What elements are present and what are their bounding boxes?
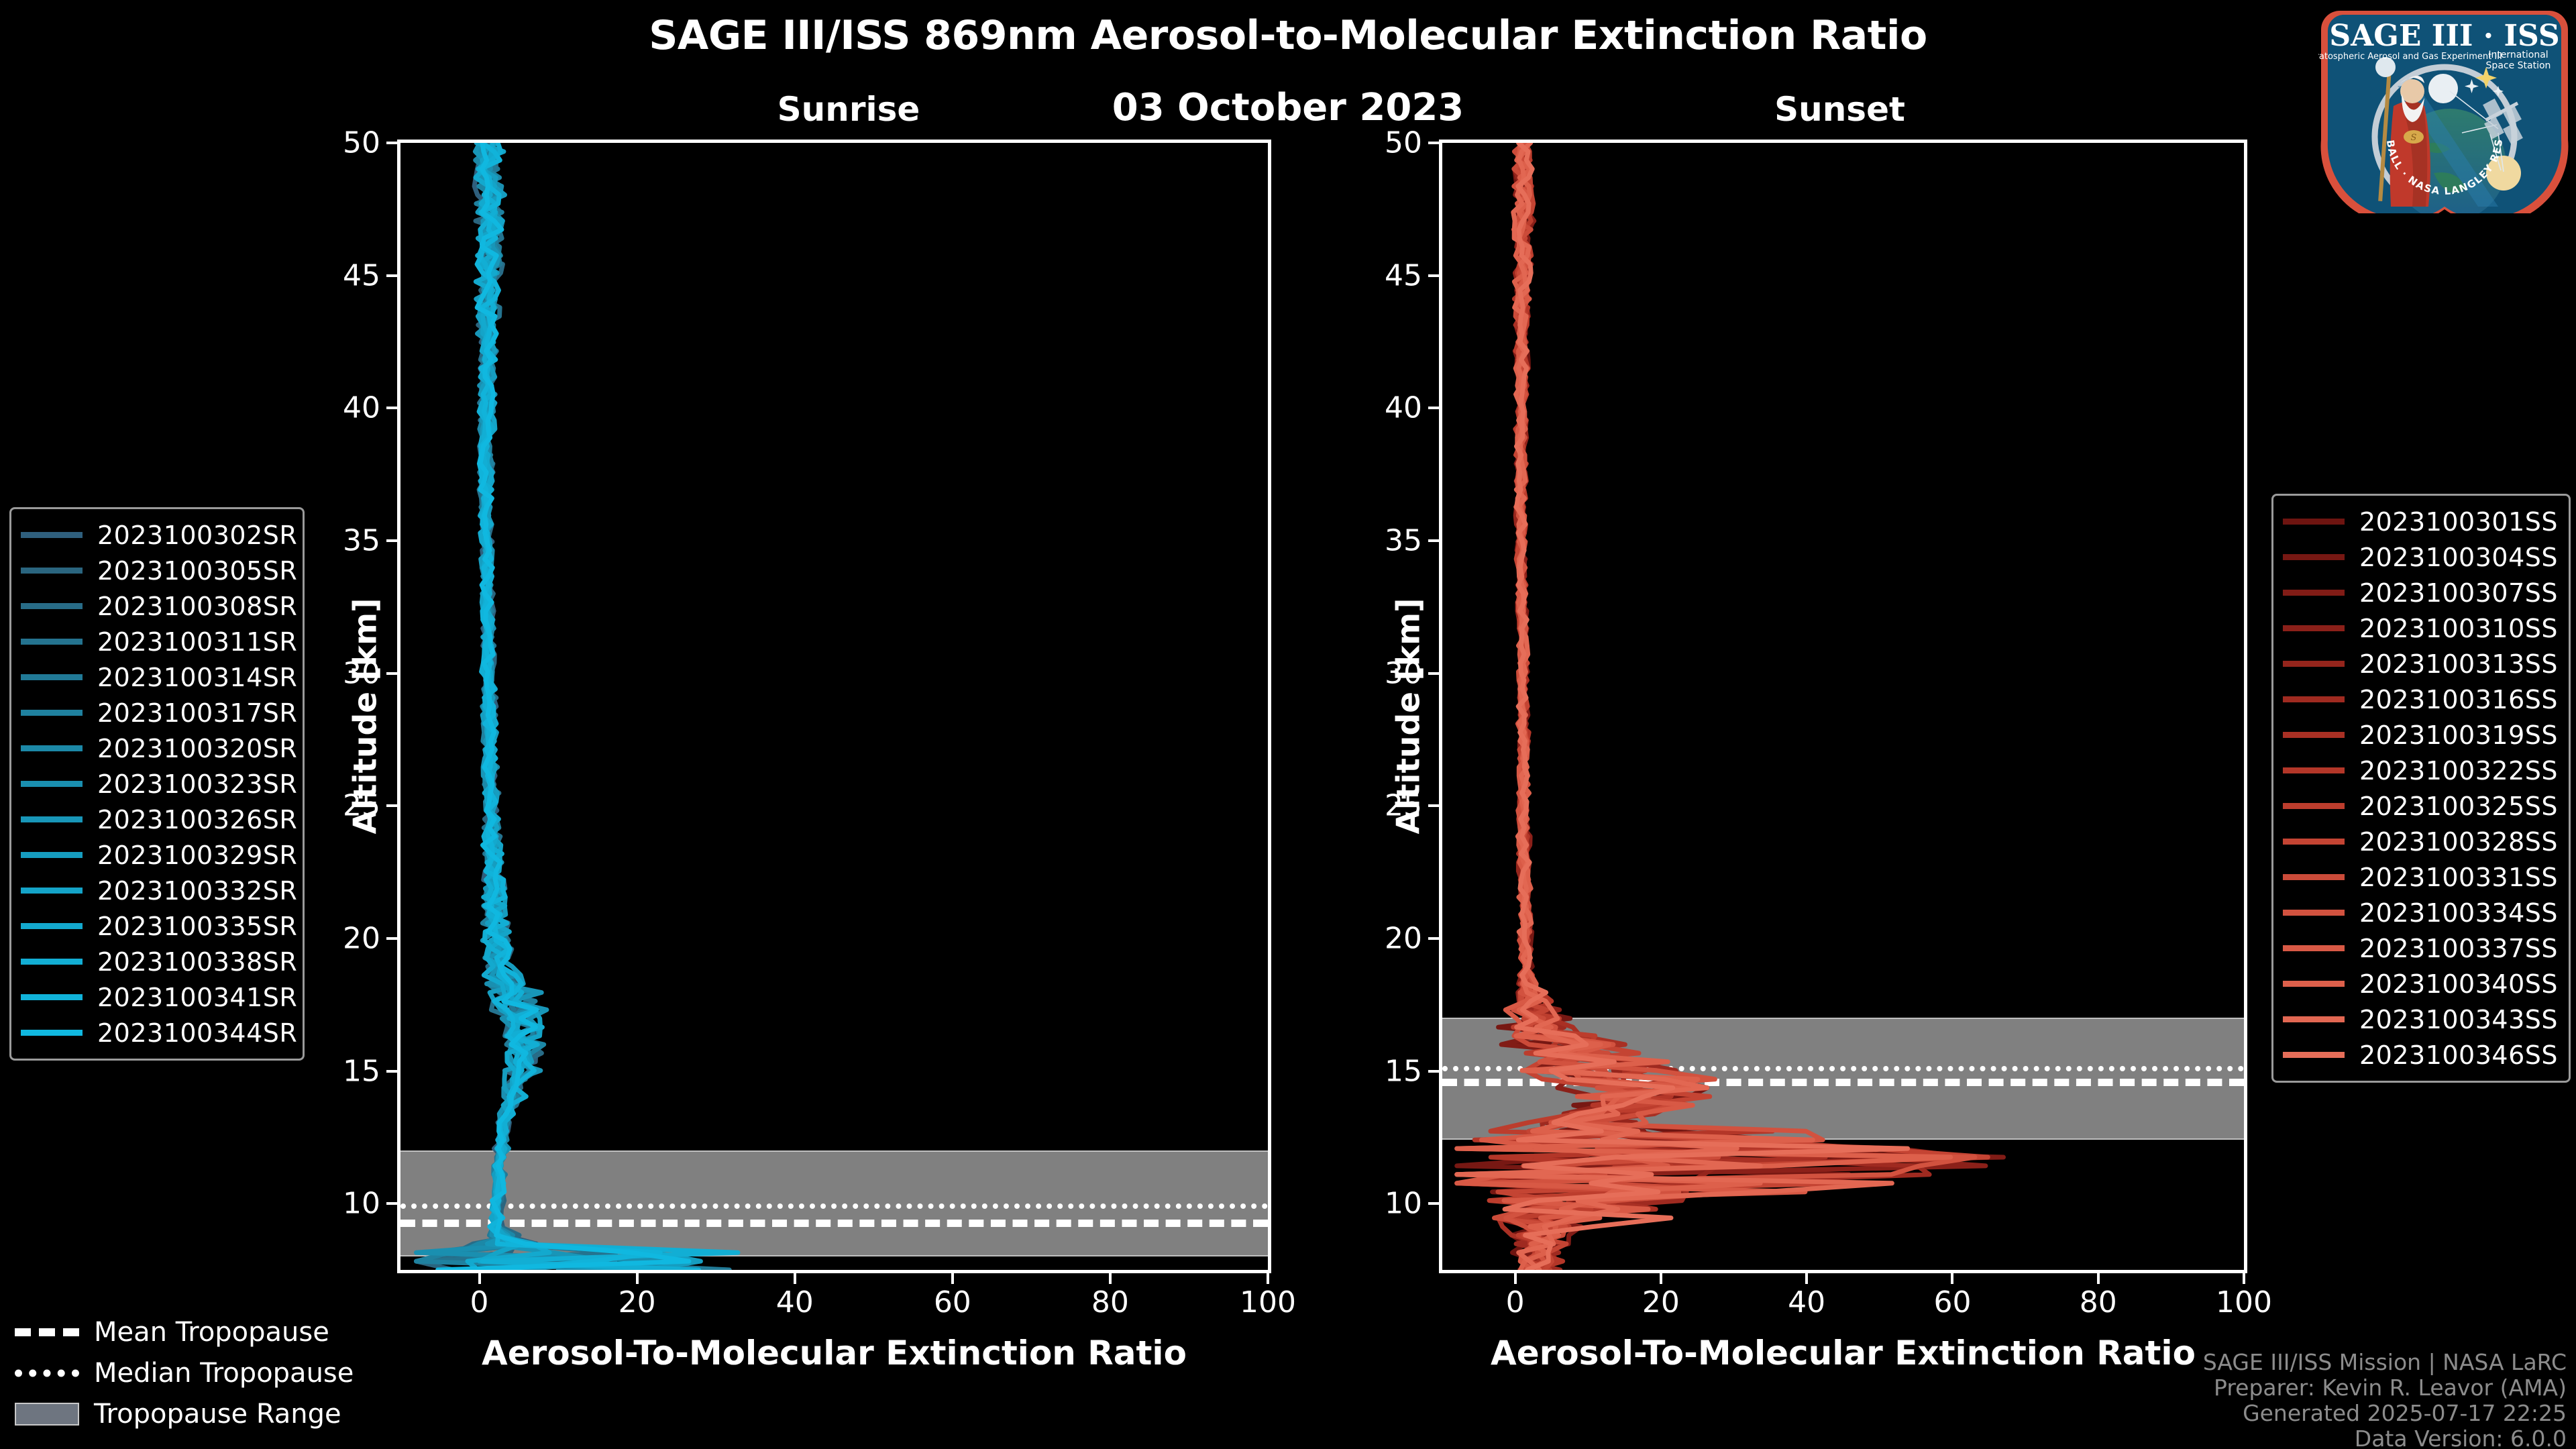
sunrise-legend-label: 2023100338SR — [97, 947, 297, 977]
credits-line: SAGE III/ISS Mission | NASA LaRC — [2203, 1350, 2567, 1375]
sunset-legend-row[interactable]: 2023100334SS — [2283, 895, 2557, 930]
x-tick-label-right-80: 80 — [2080, 1285, 2117, 1320]
profile-line-2023100332SR — [476, 143, 651, 1270]
x-tick-mark-left-40 — [794, 1273, 796, 1284]
y-tick-label-right-40: 40 — [1342, 391, 1422, 425]
sunset-legend-label: 2023100307SS — [2359, 578, 2558, 608]
y-tick-label-left-15: 15 — [300, 1054, 380, 1088]
sunset-legend-row[interactable]: 2023100331SS — [2283, 859, 2557, 895]
y-tick-mark-right-30 — [1428, 672, 1439, 675]
logo-title: SAGE III · ISS — [2329, 19, 2559, 53]
sunrise-legend-label: 2023100326SR — [97, 805, 297, 835]
y-tick-mark-left-50 — [386, 142, 397, 144]
profile-line-2023100340SS — [1457, 143, 1951, 1270]
x-tick-label-left-100: 100 — [1240, 1285, 1296, 1320]
sunrise-legend-swatch — [21, 994, 83, 1000]
sunset-legend-label: 2023100310SS — [2359, 614, 2558, 643]
credits-line: Preparer: Kevin R. Leavor (AMA) — [2203, 1375, 2567, 1401]
sunset-y-axis-label: Altitude [km] — [1391, 582, 1428, 851]
sunset-legend-row[interactable]: 2023100328SS — [2283, 824, 2557, 859]
x-tick-label-left-80: 80 — [1091, 1285, 1129, 1320]
y-tick-mark-right-50 — [1428, 142, 1439, 144]
sunrise-legend-row[interactable]: 2023100341SR — [21, 979, 290, 1015]
sunset-legend-row[interactable]: 2023100310SS — [2283, 610, 2557, 646]
y-tick-label-left-45: 45 — [300, 258, 380, 292]
y-tick-mark-right-25 — [1428, 804, 1439, 807]
sunset-legend-swatch — [2283, 767, 2345, 773]
profile-line-2023100311SR — [417, 143, 729, 1270]
sunset-legend-row[interactable]: 2023100307SS — [2283, 575, 2557, 610]
tropopause-legend-swatch-shaded-box — [15, 1403, 79, 1426]
tropopause-legend: Mean TropopauseMedian TropopauseTropopau… — [15, 1311, 390, 1434]
sunrise-legend-swatch — [21, 674, 83, 680]
y-tick-label-right-10: 10 — [1342, 1187, 1422, 1221]
profile-line-2023100307SS — [1501, 143, 2003, 1270]
tropopause-legend-row: Tropopause Range — [15, 1393, 390, 1434]
profile-line-2023100344SR — [438, 143, 689, 1270]
credits-block: SAGE III/ISS Mission | NASA LaRCPreparer… — [2203, 1350, 2567, 1449]
y-tick-label-left-20: 20 — [300, 921, 380, 955]
sunrise-legend-label: 2023100323SR — [97, 769, 297, 799]
sunset-legend-swatch — [2283, 590, 2345, 596]
x-tick-label-right-20: 20 — [1642, 1285, 1680, 1320]
y-tick-label-right-50: 50 — [1342, 126, 1422, 160]
y-tick-label-right-20: 20 — [1342, 921, 1422, 955]
sunrise-legend-label: 2023100311SR — [97, 627, 297, 657]
sunrise-legend-label: 2023100335SR — [97, 912, 297, 941]
sunset-legend-row[interactable]: 2023100301SS — [2283, 504, 2557, 539]
x-tick-label-left-40: 40 — [776, 1285, 814, 1320]
profile-line-2023100308SR — [441, 143, 614, 1270]
sunset-legend-swatch — [2283, 981, 2345, 987]
sunrise-legend-row[interactable]: 2023100335SR — [21, 908, 290, 944]
sunset-legend-row[interactable]: 2023100325SS — [2283, 788, 2557, 824]
profile-line-2023100323SR — [417, 143, 700, 1270]
sunset-legend-row[interactable]: 2023100343SS — [2283, 1002, 2557, 1037]
sunrise-legend[interactable]: 2023100302SR2023100305SR2023100308SR2023… — [9, 507, 305, 1061]
sunrise-legend-swatch — [21, 888, 83, 894]
sunrise-legend-swatch — [21, 852, 83, 858]
sunset-legend-label: 2023100346SS — [2359, 1040, 2558, 1070]
logo-iss-line1: International — [2488, 50, 2548, 60]
x-tick-mark-right-0 — [1514, 1273, 1517, 1284]
sunset-legend-row[interactable]: 2023100313SS — [2283, 646, 2557, 682]
x-tick-mark-right-60 — [1951, 1273, 1953, 1284]
tropopause-legend-label: Mean Tropopause — [94, 1317, 329, 1348]
tropopause-legend-swatch-dashed — [15, 1322, 79, 1342]
sunset-legend-label: 2023100316SS — [2359, 685, 2558, 714]
sunset-legend-row[interactable]: 2023100322SS — [2283, 753, 2557, 788]
sunset-legend-swatch — [2283, 1052, 2345, 1058]
sunset-legend-label: 2023100340SS — [2359, 969, 2558, 999]
y-tick-label-left-40: 40 — [300, 391, 380, 425]
logo-moon — [2428, 74, 2458, 103]
sunrise-legend-swatch — [21, 781, 83, 787]
sunset-legend-label: 2023100337SS — [2359, 934, 2558, 963]
profile-line-2023100302SR — [445, 143, 615, 1270]
credits-line: Generated 2025-07-17 22:25 — [2203, 1401, 2567, 1426]
sunset-legend-swatch — [2283, 945, 2345, 951]
sunrise-legend-swatch — [21, 745, 83, 751]
sunset-legend-swatch — [2283, 1016, 2345, 1022]
sunrise-legend-row[interactable]: 2023100311SR — [21, 624, 290, 659]
x-tick-label-right-100: 100 — [2216, 1285, 2272, 1320]
x-tick-mark-left-100 — [1267, 1273, 1269, 1284]
x-tick-mark-right-40 — [1805, 1273, 1808, 1284]
sunrise-legend-swatch — [21, 923, 83, 929]
sunrise-legend-swatch — [21, 603, 83, 609]
sunset-legend-swatch — [2283, 696, 2345, 702]
tropopause-legend-swatch-dotted — [15, 1363, 79, 1383]
x-tick-mark-left-60 — [951, 1273, 954, 1284]
sunrise-legend-label: 2023100308SR — [97, 592, 297, 621]
x-tick-label-right-60: 60 — [1933, 1285, 1971, 1320]
sunrise-legend-swatch — [21, 568, 83, 574]
sunrise-legend-row[interactable]: 2023100344SR — [21, 1015, 290, 1051]
credits-line: Data Version: 6.0.0 — [2203, 1426, 2567, 1449]
tropopause-legend-row: Mean Tropopause — [15, 1311, 390, 1352]
sunset-legend-row[interactable]: 2023100319SS — [2283, 717, 2557, 753]
sunrise-legend-row[interactable]: 2023100338SR — [21, 944, 290, 979]
y-tick-label-right-35: 35 — [1342, 523, 1422, 557]
sunrise-legend-swatch — [21, 1030, 83, 1036]
panel-title-sunrise: Sunrise — [396, 90, 1301, 129]
sunset-legend-swatch — [2283, 554, 2345, 560]
sunset-legend-row[interactable]: 2023100346SS — [2283, 1037, 2557, 1073]
sunrise-legend-label: 2023100317SR — [97, 698, 297, 728]
y-tick-mark-left-35 — [386, 539, 397, 542]
y-tick-mark-right-15 — [1428, 1070, 1439, 1073]
sunrise-legend-row[interactable]: 2023100320SR — [21, 731, 290, 766]
y-tick-label-right-15: 15 — [1342, 1054, 1422, 1088]
sunset-legend-label: 2023100319SS — [2359, 720, 2558, 750]
y-tick-mark-right-20 — [1428, 937, 1439, 940]
sunrise-legend-label: 2023100329SR — [97, 841, 297, 870]
y-tick-mark-left-15 — [386, 1070, 397, 1073]
sunrise-legend-row[interactable]: 2023100308SR — [21, 588, 290, 624]
sunset-legend-label: 2023100313SS — [2359, 649, 2558, 679]
y-tick-label-left-35: 35 — [300, 523, 380, 557]
sunrise-legend-label: 2023100305SR — [97, 556, 297, 586]
sunrise-legend-row[interactable]: 2023100314SR — [21, 659, 290, 695]
sunset-legend-row[interactable]: 2023100316SS — [2283, 682, 2557, 717]
profile-line-2023100334SS — [1457, 143, 1975, 1270]
profile-line-2023100338SR — [478, 143, 738, 1270]
sunrise-legend-label: 2023100314SR — [97, 663, 297, 692]
sunrise-legend-label: 2023100302SR — [97, 521, 297, 550]
sunrise-legend-label: 2023100341SR — [97, 983, 297, 1012]
sage-iii-iss-mission-patch-logo: S BALL · NASA LANGLEY RESEARCH CENTER · … — [2318, 5, 2571, 213]
sunset-legend[interactable]: 2023100301SS2023100304SS2023100307SS2023… — [2271, 494, 2571, 1083]
profile-line-2023100317SR — [417, 143, 659, 1270]
x-tick-mark-right-100 — [2243, 1273, 2245, 1284]
y-tick-label-left-10: 10 — [300, 1187, 380, 1221]
profile-line-2023100314SR — [432, 143, 730, 1270]
page-title: SAGE III/ISS 869nm Aerosol-to-Molecular … — [0, 12, 2576, 59]
sunrise-legend-label: 2023100320SR — [97, 734, 297, 763]
sunset-legend-swatch — [2283, 910, 2345, 916]
x-tick-label-left-60: 60 — [934, 1285, 971, 1320]
sunset-legend-label: 2023100328SS — [2359, 827, 2558, 857]
y-tick-mark-left-10 — [386, 1202, 397, 1205]
y-tick-mark-right-10 — [1428, 1202, 1439, 1205]
sunset-legend-swatch — [2283, 803, 2345, 809]
profile-line-2023100328SS — [1457, 143, 1988, 1270]
sunset-plot-area — [1439, 140, 2247, 1273]
sunset-profile-curves — [1442, 143, 2244, 1270]
sunrise-plot-area — [397, 140, 1271, 1273]
y-tick-mark-right-35 — [1428, 539, 1439, 542]
sunrise-legend-row[interactable]: 2023100329SR — [21, 837, 290, 873]
x-tick-mark-left-20 — [636, 1273, 639, 1284]
sunset-legend-label: 2023100325SS — [2359, 792, 2558, 821]
sunset-legend-swatch — [2283, 625, 2345, 631]
x-tick-mark-right-20 — [1660, 1273, 1662, 1284]
svg-text:S: S — [2411, 133, 2417, 143]
sunset-legend-label: 2023100343SS — [2359, 1005, 2558, 1034]
tropopause-legend-label: Median Tropopause — [94, 1358, 354, 1389]
x-tick-label-left-0: 0 — [470, 1285, 489, 1320]
sunset-legend-swatch — [2283, 839, 2345, 845]
sunset-x-axis-label: Aerosol-To-Molecular Extinction Ratio — [1439, 1334, 2247, 1373]
sunrise-x-axis-label: Aerosol-To-Molecular Extinction Ratio — [397, 1334, 1271, 1373]
y-tick-label-right-45: 45 — [1342, 258, 1422, 292]
y-tick-mark-right-45 — [1428, 274, 1439, 277]
sunset-legend-label: 2023100331SS — [2359, 863, 2558, 892]
tropopause-legend-label: Tropopause Range — [94, 1399, 341, 1430]
profile-line-2023100313SS — [1495, 143, 1967, 1270]
tropopause-legend-row: Median Tropopause — [15, 1352, 390, 1393]
sunset-legend-swatch — [2283, 519, 2345, 525]
sunset-legend-swatch — [2283, 732, 2345, 738]
sunrise-legend-row[interactable]: 2023100302SR — [21, 517, 290, 553]
sunrise-legend-swatch — [21, 639, 83, 645]
x-tick-label-right-40: 40 — [1788, 1285, 1825, 1320]
profile-line-2023100316SS — [1516, 143, 1929, 1270]
profile-line-2023100310SS — [1457, 143, 1986, 1270]
profile-line-2023100346SS — [1505, 143, 1908, 1270]
sunrise-legend-row[interactable]: 2023100326SR — [21, 802, 290, 837]
sunrise-legend-row[interactable]: 2023100323SR — [21, 766, 290, 802]
sunset-legend-row[interactable]: 2023100337SS — [2283, 930, 2557, 966]
y-tick-mark-right-40 — [1428, 407, 1439, 409]
sunset-legend-row[interactable]: 2023100340SS — [2283, 966, 2557, 1002]
sunrise-legend-row[interactable]: 2023100332SR — [21, 873, 290, 908]
y-tick-mark-left-30 — [386, 672, 397, 675]
x-tick-mark-left-0 — [478, 1273, 481, 1284]
x-tick-label-left-20: 20 — [619, 1285, 656, 1320]
sunset-legend-label: 2023100334SS — [2359, 898, 2558, 928]
x-tick-mark-left-80 — [1109, 1273, 1112, 1284]
y-tick-mark-left-25 — [386, 804, 397, 807]
panel-title-sunset: Sunset — [1432, 90, 2247, 129]
sunset-legend-row[interactable]: 2023100304SS — [2283, 539, 2557, 575]
sunset-legend-swatch — [2283, 874, 2345, 880]
logo-subtitle: Stratospheric Aerosol and Gas Experiment… — [2318, 52, 2502, 62]
sunrise-profile-curves — [400, 143, 1268, 1270]
sunrise-legend-swatch — [21, 959, 83, 965]
sunset-legend-label: 2023100322SS — [2359, 756, 2558, 786]
sunrise-y-axis-label: Altitude [km] — [347, 582, 384, 851]
sunrise-legend-row[interactable]: 2023100305SR — [21, 553, 290, 588]
sunset-legend-swatch — [2283, 661, 2345, 667]
x-tick-mark-right-80 — [2097, 1273, 2100, 1284]
sunrise-legend-swatch — [21, 710, 83, 716]
logo-iss-line2: Space Station — [2486, 60, 2551, 71]
y-tick-mark-left-20 — [386, 937, 397, 940]
sunset-legend-label: 2023100301SS — [2359, 507, 2558, 537]
sunrise-legend-label: 2023100344SR — [97, 1018, 297, 1048]
sunrise-legend-swatch — [21, 532, 83, 538]
y-tick-label-left-50: 50 — [300, 126, 380, 160]
y-tick-mark-left-40 — [386, 407, 397, 409]
y-tick-mark-left-45 — [386, 274, 397, 277]
sunrise-legend-row[interactable]: 2023100317SR — [21, 695, 290, 731]
x-tick-label-right-0: 0 — [1506, 1285, 1525, 1320]
sunset-legend-label: 2023100304SS — [2359, 543, 2558, 572]
sunrise-legend-swatch — [21, 816, 83, 822]
sunrise-legend-label: 2023100332SR — [97, 876, 297, 906]
